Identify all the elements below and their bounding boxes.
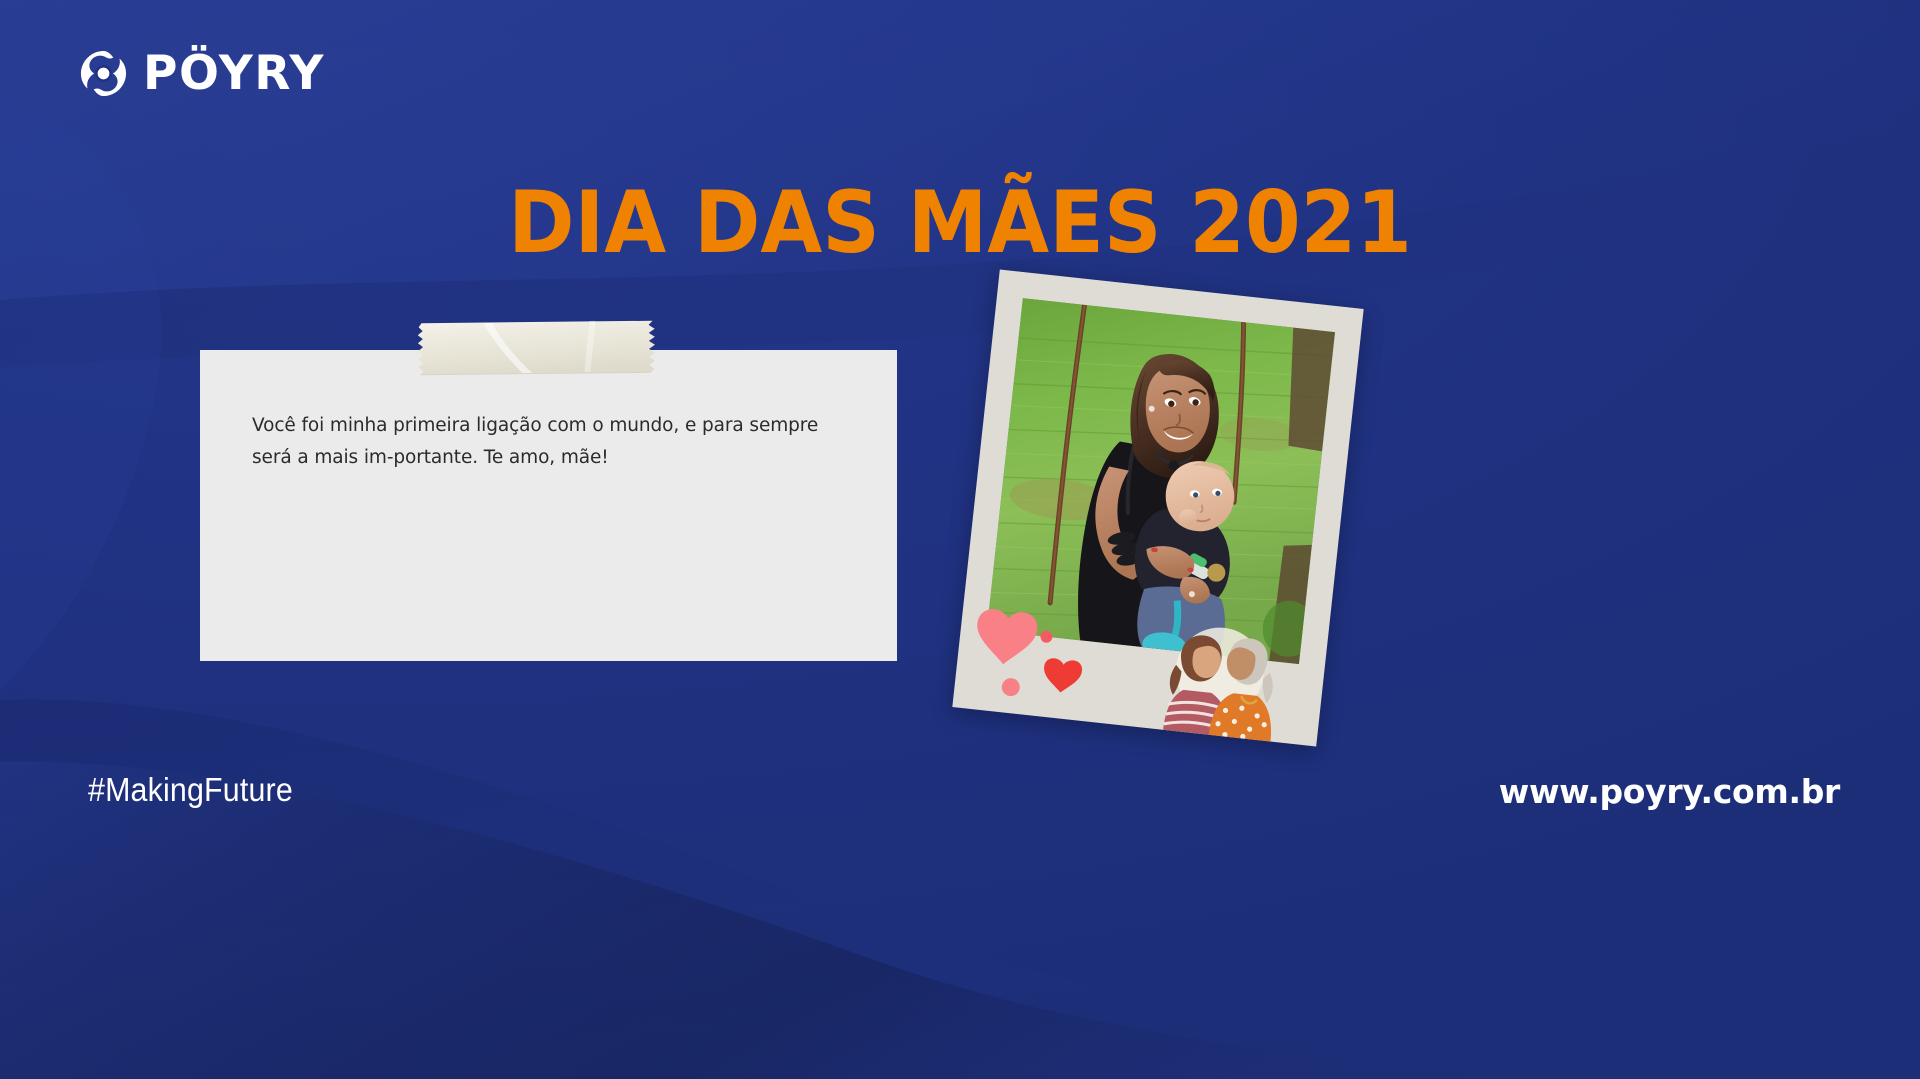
small-red-heart-sticker	[1042, 657, 1083, 694]
tiny-pink-dot-sticker	[1001, 677, 1021, 697]
page-title: DIA DAS MÃES 2021	[67, 180, 1853, 266]
polaroid-photo-frame	[952, 270, 1363, 747]
website-url[interactable]: www.poyry.com.br	[1499, 772, 1840, 811]
mother-and-baby-photo	[987, 298, 1335, 664]
masking-tape-icon	[413, 314, 658, 381]
poyry-logo-text: PÖYRY	[143, 50, 325, 97]
hashtag-makingfuture: #MakingFuture	[88, 771, 293, 809]
message-text: Você foi minha primeira ligação com o mu…	[252, 410, 862, 474]
poyry-swirl-icon	[80, 50, 127, 97]
message-card: Você foi minha primeira ligação com o mu…	[200, 350, 897, 661]
poyry-logo[interactable]: PÖYRY	[80, 50, 325, 97]
